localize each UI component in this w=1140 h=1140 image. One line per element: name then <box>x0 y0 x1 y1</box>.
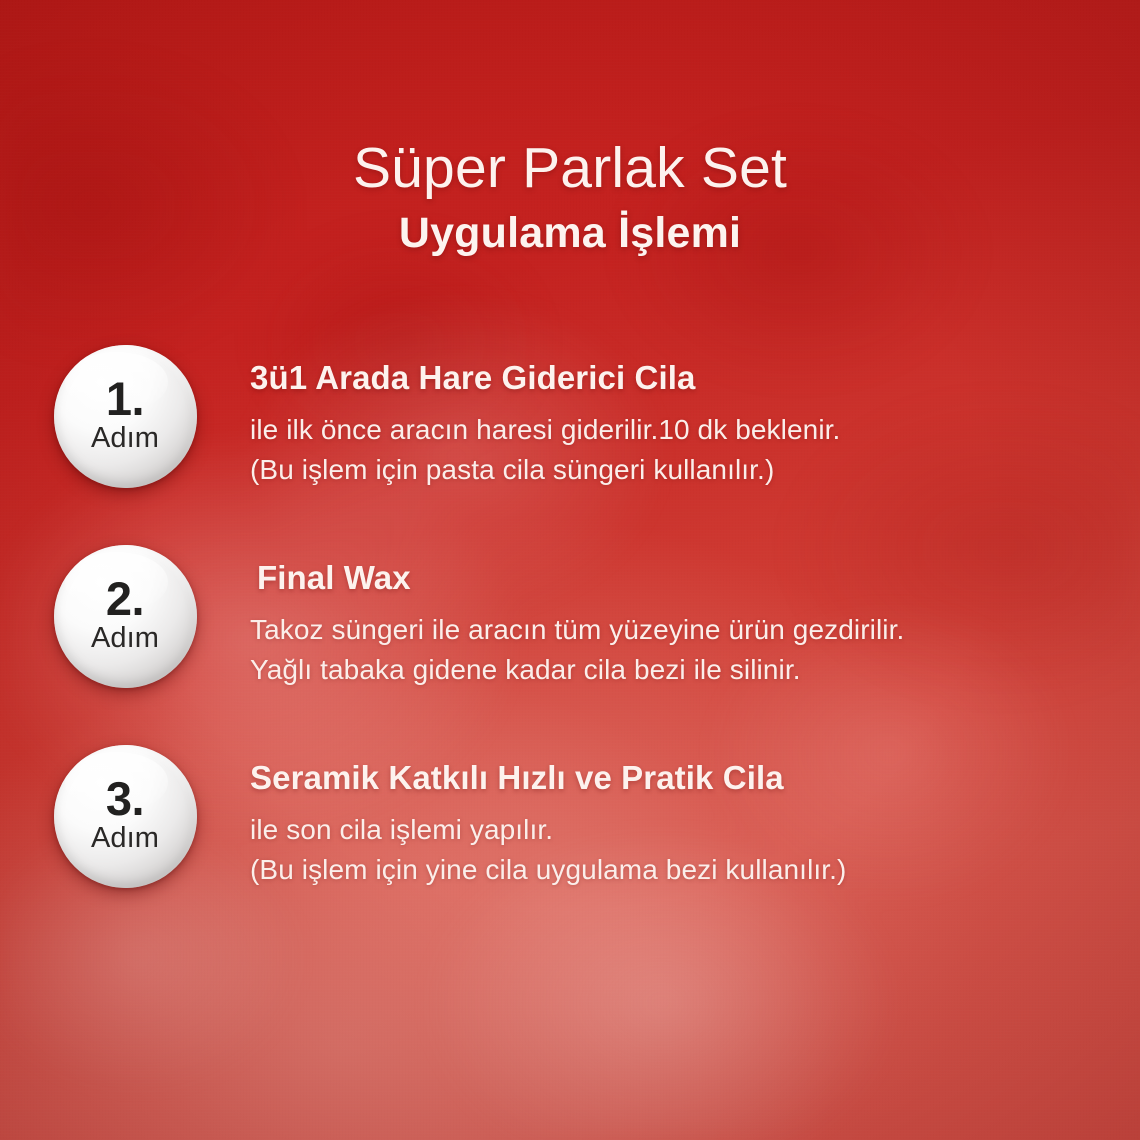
poster-header: Süper Parlak Set Uygulama İşlemi <box>0 138 1140 257</box>
step-text-1: 3ü1 Arada Hare Giderici Cila ile ilk önc… <box>250 345 1140 489</box>
step-line-1-1: ile ilk önce aracın haresi giderilir.10 … <box>250 410 1100 450</box>
step-item-3: 3. Adım Seramik Katkılı Hızlı ve Pratik … <box>0 745 1140 941</box>
step-badge-slot-1: 1. Adım <box>0 345 250 488</box>
step-badge-slot-3: 3. Adım <box>0 745 250 888</box>
page-subtitle: Uygulama İşlemi <box>0 210 1140 257</box>
page-title: Süper Parlak Set <box>0 138 1140 200</box>
step-heading-3: Seramik Katkılı Hızlı ve Pratik Cila <box>250 759 1100 797</box>
step-text-2: Final Wax Takoz süngeri ile aracın tüm y… <box>250 545 1140 689</box>
promotional-poster: Süper Parlak Set Uygulama İşlemi 1. Adım… <box>0 0 1140 1140</box>
step-badge-label-1: Adım <box>91 423 159 453</box>
step-line-1-2: (Bu işlem için pasta cila süngeri kullan… <box>250 450 1100 490</box>
step-badge-number-3: 3. <box>106 777 144 822</box>
step-heading-1: 3ü1 Arada Hare Giderici Cila <box>250 359 1100 397</box>
step-badge-number-1: 1. <box>106 377 144 422</box>
step-item-1: 1. Adım 3ü1 Arada Hare Giderici Cila ile… <box>0 345 1140 541</box>
step-text-3: Seramik Katkılı Hızlı ve Pratik Cila ile… <box>250 745 1140 889</box>
step-badge-1: 1. Adım <box>54 345 197 488</box>
step-line-3-2: (Bu işlem için yine cila uygulama bezi k… <box>250 850 1100 890</box>
step-line-2-2: Yağlı tabaka gidene kadar cila bezi ile … <box>250 650 1100 690</box>
step-badge-2: 2. Adım <box>54 545 197 688</box>
step-badge-3: 3. Adım <box>54 745 197 888</box>
step-badge-label-2: Adım <box>91 623 159 653</box>
step-badge-slot-2: 2. Adım <box>0 545 250 688</box>
step-item-2: 2. Adım Final Wax Takoz süngeri ile arac… <box>0 545 1140 741</box>
step-line-3-1: ile son cila işlemi yapılır. <box>250 810 1100 850</box>
poster-content: Süper Parlak Set Uygulama İşlemi 1. Adım… <box>0 0 1140 1140</box>
steps-list: 1. Adım 3ü1 Arada Hare Giderici Cila ile… <box>0 345 1140 941</box>
step-line-2-1: Takoz süngeri ile aracın tüm yüzeyine ür… <box>250 610 1100 650</box>
step-badge-number-2: 2. <box>106 577 144 622</box>
step-badge-label-3: Adım <box>91 823 159 853</box>
step-heading-2: Final Wax <box>250 559 1100 597</box>
